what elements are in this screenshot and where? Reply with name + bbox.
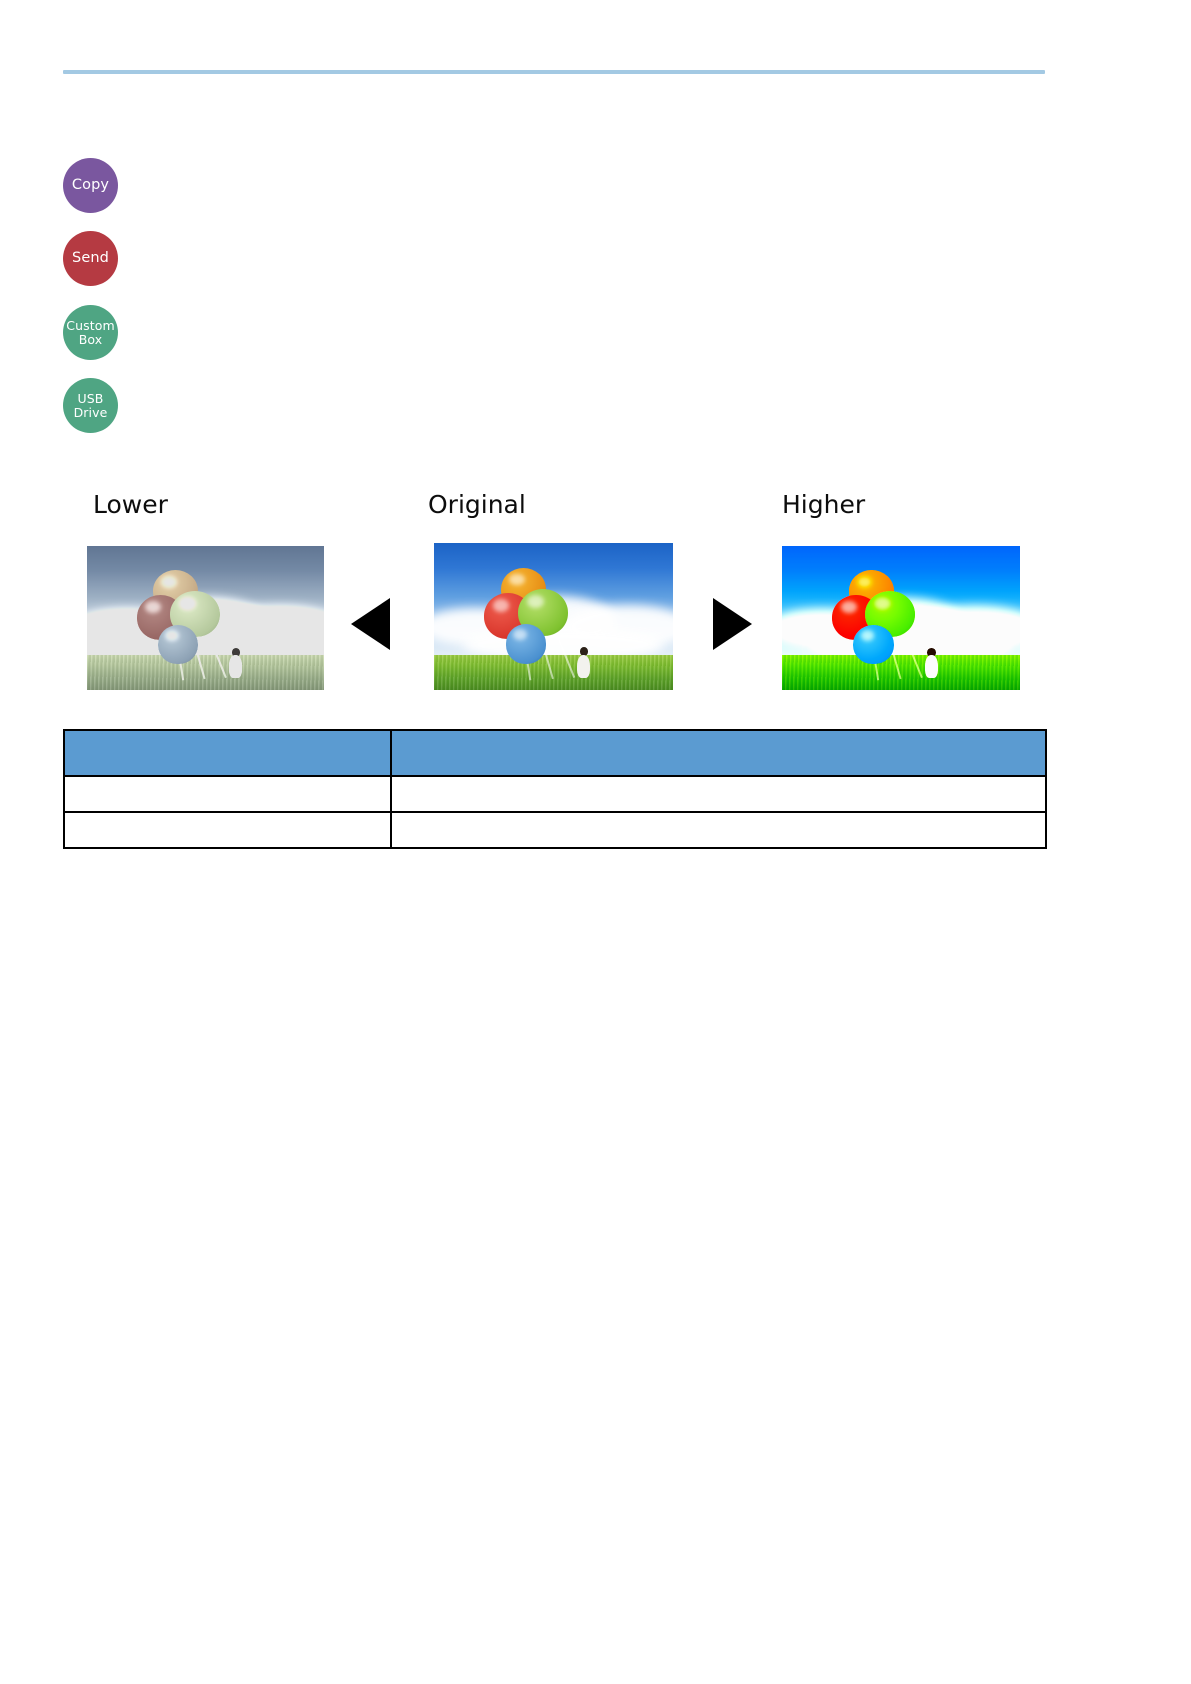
balloon-blue — [853, 625, 893, 664]
header-rule — [63, 70, 1045, 74]
badge-custom-box-label-line2: Box — [79, 333, 103, 346]
balloon-scene-higher — [782, 546, 1020, 690]
table-row — [64, 812, 1046, 848]
girl-body — [229, 655, 242, 678]
table-cell — [391, 812, 1046, 848]
saturation-comparison: Lower Original — [0, 492, 1191, 704]
comparison-column-original: Original — [428, 492, 526, 517]
thumbnail-higher — [782, 546, 1020, 690]
badge-usb-drive-label-line2: Drive — [74, 406, 108, 419]
table-header-row — [64, 730, 1046, 776]
table-cell — [64, 812, 391, 848]
table-cell — [64, 776, 391, 812]
spec-table — [63, 729, 1047, 849]
comparison-column-higher: Higher — [782, 492, 865, 517]
badge-send-label: Send — [72, 251, 109, 266]
badge-usb-drive[interactable]: USB Drive — [63, 378, 118, 433]
badge-copy-label: Copy — [72, 178, 109, 193]
label-lower: Lower — [93, 492, 168, 517]
grass-field — [87, 655, 324, 690]
table-header-cell-2 — [391, 730, 1046, 776]
label-original: Original — [428, 492, 526, 517]
grass-field — [782, 655, 1020, 690]
badge-custom-box-label-line1: Custom — [66, 319, 115, 332]
badge-copy[interactable]: Copy — [63, 158, 118, 213]
table-header-cell-1 — [64, 730, 391, 776]
table-cell — [391, 776, 1046, 812]
balloon-scene-original — [434, 543, 673, 690]
balloon-scene-lower — [87, 546, 324, 690]
girl-body — [925, 655, 938, 678]
thumbnail-lower — [87, 546, 324, 690]
label-higher: Higher — [782, 492, 865, 517]
thumbnail-original — [434, 543, 673, 690]
arrow-right-icon — [713, 598, 752, 650]
grass-field — [434, 655, 673, 690]
badge-custom-box[interactable]: Custom Box — [63, 305, 118, 360]
badge-usb-drive-label-line1: USB — [78, 392, 104, 405]
badge-send[interactable]: Send — [63, 231, 118, 286]
balloon-blue — [506, 624, 547, 664]
balloon-blue — [158, 625, 198, 664]
arrow-left-icon — [351, 598, 390, 650]
girl-body — [577, 655, 590, 679]
table-row — [64, 776, 1046, 812]
comparison-column-lower: Lower — [93, 492, 168, 517]
